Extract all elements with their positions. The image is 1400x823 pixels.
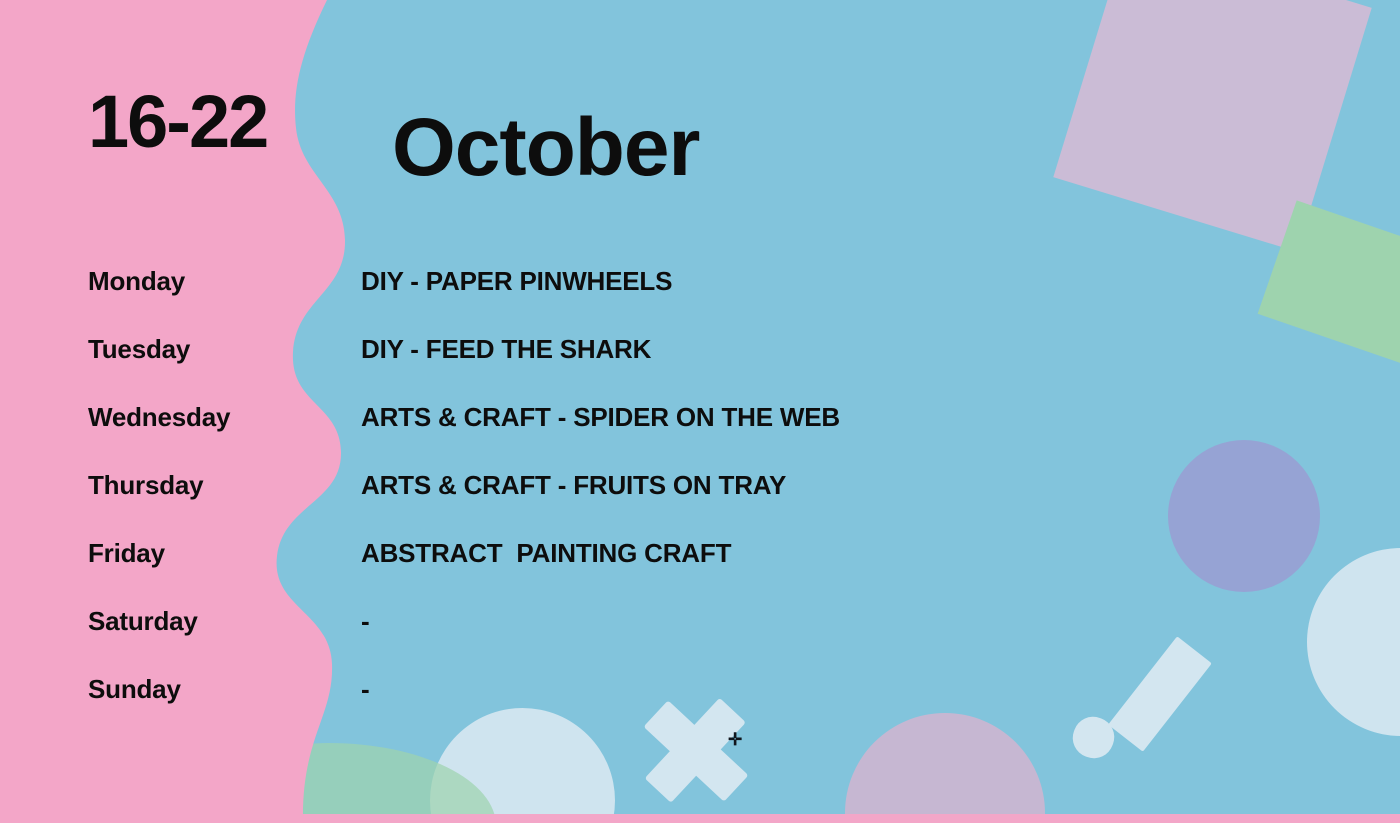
day-label: Monday <box>88 266 348 297</box>
schedule-row-tuesday: Tuesday DIY - FEED THE SHARK <box>0 334 1400 402</box>
crosshair-cursor-icon: ✛ <box>728 732 744 748</box>
day-label: Sunday <box>88 674 348 705</box>
activity-label: - <box>361 606 369 637</box>
poster-content-layer: 16-22 October Monday DIY - PAPER PINWHEE… <box>0 0 1400 823</box>
week-range-label: 16-22 <box>88 88 278 156</box>
day-label: Wednesday <box>88 402 348 433</box>
activity-label: ARTS & CRAFT - FRUITS ON TRAY <box>361 470 786 501</box>
weekly-schedule-poster: 16-22 October Monday DIY - PAPER PINWHEE… <box>0 0 1400 823</box>
day-label: Friday <box>88 538 348 569</box>
schedule-row-saturday: Saturday - <box>0 606 1400 674</box>
schedule-row-wednesday: Wednesday ARTS & CRAFT - SPIDER ON THE W… <box>0 402 1400 470</box>
day-label: Thursday <box>88 470 348 501</box>
month-title: October <box>392 107 699 189</box>
activity-label: ARTS & CRAFT - SPIDER ON THE WEB <box>361 402 840 433</box>
schedule-list: Monday DIY - PAPER PINWHEELS Tuesday DIY… <box>0 266 1400 742</box>
activity-label: - <box>361 674 369 705</box>
activity-label: DIY - FEED THE SHARK <box>361 334 651 365</box>
schedule-row-sunday: Sunday - <box>0 674 1400 742</box>
activity-label: DIY - PAPER PINWHEELS <box>361 266 672 297</box>
schedule-row-monday: Monday DIY - PAPER PINWHEELS <box>0 266 1400 334</box>
schedule-row-thursday: Thursday ARTS & CRAFT - FRUITS ON TRAY <box>0 470 1400 538</box>
day-label: Saturday <box>88 606 348 637</box>
day-label: Tuesday <box>88 334 348 365</box>
activity-label: ABSTRACT PAINTING CRAFT <box>361 538 731 569</box>
schedule-row-friday: Friday ABSTRACT PAINTING CRAFT <box>0 538 1400 606</box>
